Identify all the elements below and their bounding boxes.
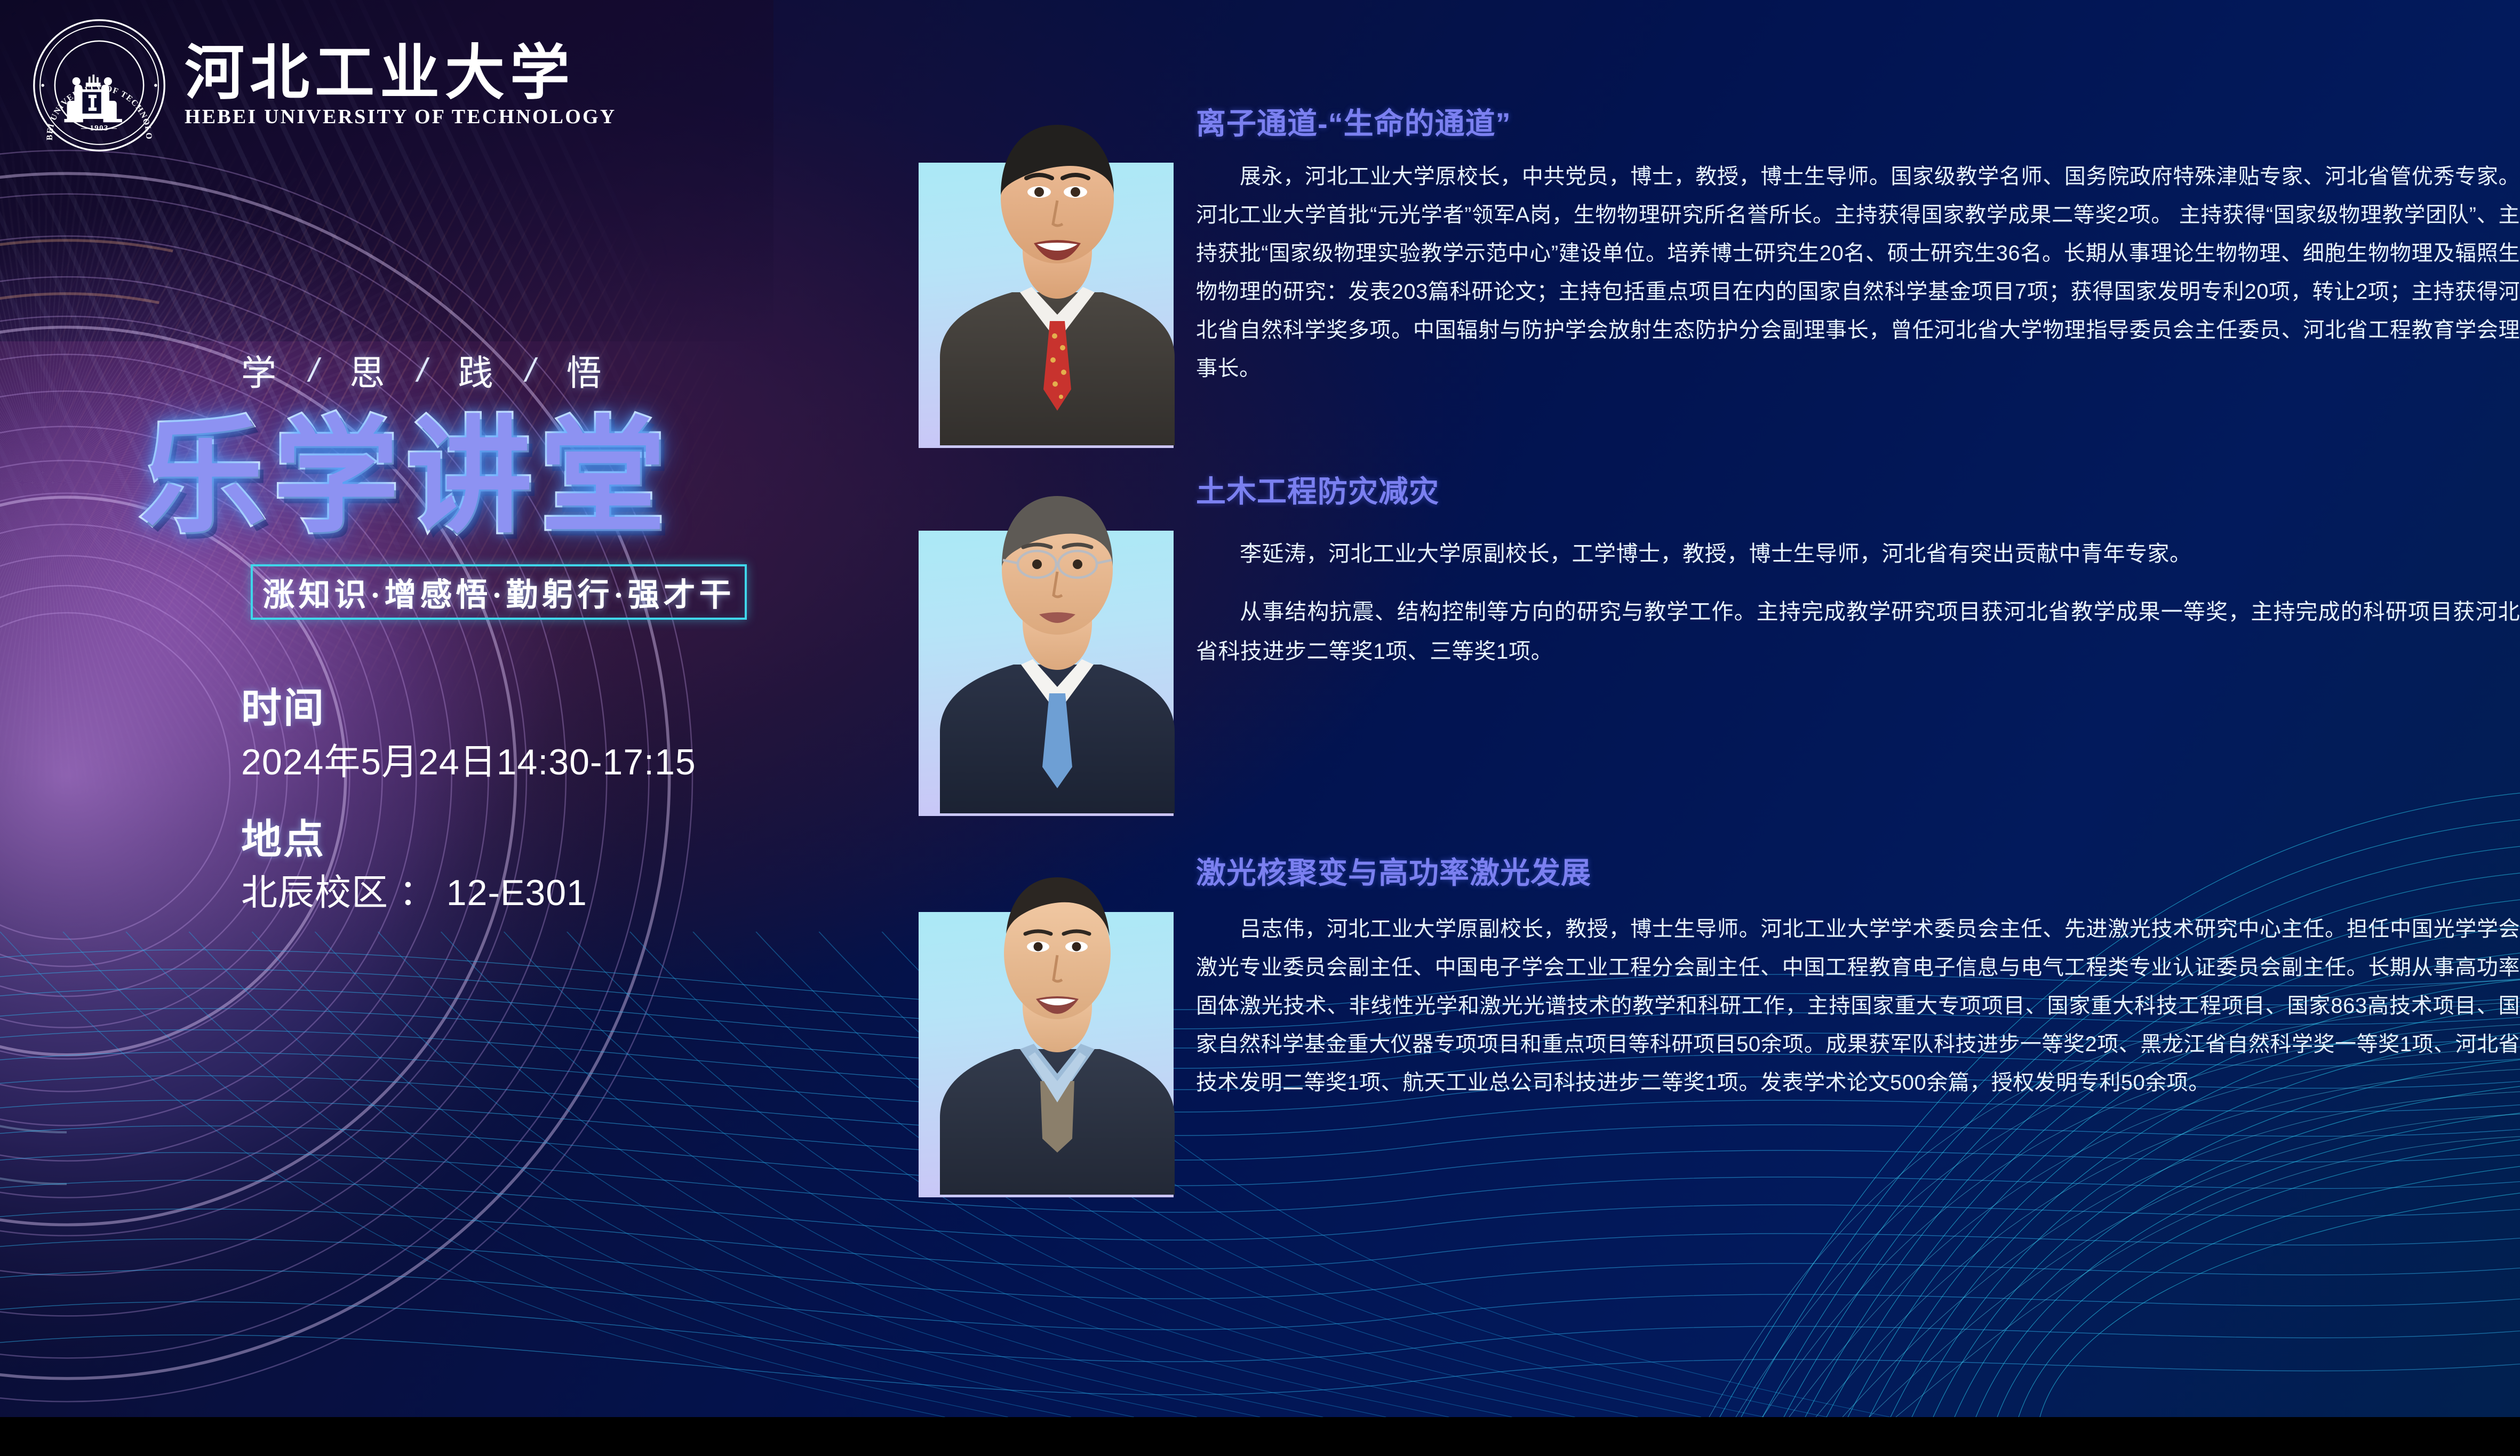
speakers-column: 离子通道-“生命的通道” 展永，河北工业大学原校长，中共党员，博士，教授，博士生… bbox=[907, 0, 2520, 1417]
portrait-zhan-yong-image bbox=[940, 91, 1175, 445]
motto-separator-2: / bbox=[522, 351, 539, 389]
speaker-portrait bbox=[940, 840, 1175, 1195]
speaker-bio: 李延涛，河北工业大学原副校长，工学博士，教授，博士生导师，河北省有突出贡献中青年… bbox=[1196, 534, 2520, 671]
speaker-portrait bbox=[940, 459, 1175, 813]
motto-word-0: 学 bbox=[241, 345, 278, 396]
event-info: 时间 2024年5月24日14:30-17:15 地点 北辰校区 ： 12-E3… bbox=[241, 685, 886, 918]
speaker-topic-title: 土木工程防灾减灾 bbox=[1196, 474, 2520, 509]
svg-text:—1903—: —1903— bbox=[81, 124, 117, 132]
motto-separator-0: / bbox=[305, 351, 322, 389]
speaker-entry: 激光核聚变与高功率激光发展 吕志伟，河北工业大学原副校长，教授，博士生导师。河北… bbox=[907, 840, 2520, 1105]
motto-word-2: 践 bbox=[458, 345, 495, 396]
university-logo-lockup: HEBEI UNIVERSITY OF TECHNOLOGY 河北工业大学 bbox=[32, 18, 616, 153]
motto-separator-1: / bbox=[414, 351, 431, 389]
poster-title: 乐学讲堂 bbox=[140, 411, 886, 544]
speaker-entry: 土木工程防灾减灾 李延涛，河北工业大学原副校长，工学博士，教授，博士生导师，河北… bbox=[907, 459, 2520, 690]
speaker-text-block: 离子通道-“生命的通道” 展永，河北工业大学原校长，中共党员，博士，教授，博士生… bbox=[1174, 91, 2520, 391]
speaker-photo-card bbox=[907, 459, 1174, 690]
tagline-box: 涨知识·增感悟·勤躬行·强才干 bbox=[251, 564, 747, 620]
speaker-photo-card bbox=[907, 840, 1174, 1105]
time-label: 时间 bbox=[241, 685, 886, 733]
speaker-bio-paragraph: 李延涛，河北工业大学原副校长，工学博士，教授，博士生导师，河北省有突出贡献中青年… bbox=[1196, 534, 2520, 574]
speaker-topic-title: 激光核聚变与高功率激光发展 bbox=[1196, 855, 2520, 891]
speaker-text-block: 土木工程防灾减灾 李延涛，河北工业大学原副校长，工学博士，教授，博士生导师，河北… bbox=[1174, 459, 2520, 690]
speaker-bio: 吕志伟，河北工业大学原副校长，教授，博士生导师。河北工业大学学术委员会主任、先进… bbox=[1196, 910, 2520, 1102]
speaker-portrait bbox=[940, 91, 1175, 445]
time-value: 2024年5月24日14:30-17:15 bbox=[241, 738, 886, 787]
university-name-cn: 河北工业大学 bbox=[185, 44, 616, 103]
motto-row: 学 / 思 / 践 / 悟 bbox=[241, 341, 886, 399]
tagline-text: 涨知识·增感悟·勤躬行·强才干 bbox=[262, 569, 735, 615]
portrait-lv-zhiwei-image bbox=[940, 840, 1175, 1195]
speaker-bio-paragraph: 展永，河北工业大学原校长，中共党员，博士，教授，博士生导师。国家级教学名师、国务… bbox=[1196, 157, 2520, 388]
speaker-topic-title: 离子通道-“生命的通道” bbox=[1196, 106, 2520, 141]
place-label: 地点 bbox=[241, 816, 886, 864]
speaker-bio-paragraph: 吕志伟，河北工业大学原副校长，教授，博士生导师。河北工业大学学术委员会主任、先进… bbox=[1196, 910, 2520, 1102]
hebei-university-seal-icon: HEBEI UNIVERSITY OF TECHNOLOGY 河北工业大学 bbox=[32, 18, 166, 153]
portrait-li-yantao-image bbox=[940, 459, 1175, 813]
poster-canvas: HEBEI UNIVERSITY OF TECHNOLOGY 河北工业大学 bbox=[0, 0, 2520, 1417]
university-name-en: HEBEI UNIVERSITY OF TECHNOLOGY bbox=[185, 107, 616, 127]
speaker-bio-paragraph: 从事结构抗震、结构控制等方向的研究与教学工作。主持完成教学研究项目获河北省教学成… bbox=[1196, 592, 2520, 671]
speaker-text-block: 激光核聚变与高功率激光发展 吕志伟，河北工业大学原副校长，教授，博士生导师。河北… bbox=[1174, 840, 2520, 1105]
speaker-bio: 展永，河北工业大学原校长，中共党员，博士，教授，博士生导师。国家级教学名师、国务… bbox=[1196, 157, 2520, 388]
hero-column: 学 / 思 / 践 / 悟 乐学讲堂 涨知识·增感悟·勤躬行·强才干 时间 20… bbox=[0, 341, 886, 918]
motto-word-3: 悟 bbox=[567, 345, 604, 396]
motto-word-1: 思 bbox=[349, 345, 387, 396]
speaker-photo-card bbox=[907, 91, 1174, 391]
speaker-entry: 离子通道-“生命的通道” 展永，河北工业大学原校长，中共党员，博士，教授，博士生… bbox=[907, 91, 2520, 391]
place-value: 北辰校区 ： 12-E301 bbox=[241, 869, 886, 918]
